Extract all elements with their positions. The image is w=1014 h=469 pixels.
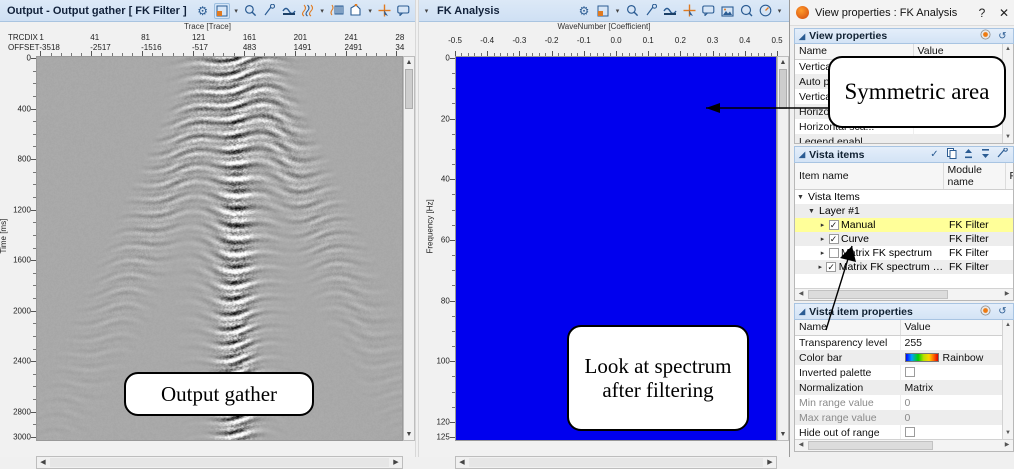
- zoom-icon[interactable]: [243, 3, 259, 19]
- collapse-triangle-icon[interactable]: ◢: [799, 32, 805, 41]
- fk-x-tick-label: -0.1: [577, 36, 591, 45]
- scroll-up-arrow[interactable]: ▲: [404, 57, 414, 68]
- item-property-name: Color bar: [795, 350, 900, 365]
- crosshair-icon[interactable]: [681, 3, 697, 19]
- vista-item-label: Layer #1: [817, 205, 949, 217]
- scroll-down-arrow[interactable]: ▼: [404, 429, 414, 440]
- item-property-value[interactable]: [900, 365, 1013, 380]
- scroll-down-arrow[interactable]: ▼: [1003, 428, 1013, 439]
- fk-y-tick-label: 80: [441, 296, 450, 305]
- property-name: Legend enabl...: [795, 134, 913, 144]
- col-value: Value: [900, 320, 1013, 335]
- callout-output-gather-text: Output gather: [161, 382, 277, 406]
- scroll-left-arrow[interactable]: ◀: [795, 289, 807, 300]
- squeeze-icon[interactable]: [300, 3, 316, 19]
- color-bar-swatch[interactable]: [905, 353, 939, 362]
- callout-symmetric-area-text: Symmetric area: [845, 79, 990, 105]
- item-property-row[interactable]: Transparency level255: [795, 335, 1013, 350]
- y-tick-label: 3000: [13, 433, 31, 442]
- item-property-name: Min range value: [795, 395, 900, 410]
- item-props-hscroll[interactable]: ◀ ▶: [795, 439, 1013, 451]
- x-header-trcdix: TRCDIX: [8, 33, 38, 42]
- x-tick-trcdix: 81: [141, 33, 150, 42]
- settings-orange-icon[interactable]: [979, 305, 992, 319]
- vista-items-title: Vista items: [809, 149, 924, 161]
- col-item-name: Item name: [795, 163, 943, 190]
- scroll-right-arrow[interactable]: ▶: [1001, 289, 1013, 300]
- item-property-value[interactable]: 255: [900, 335, 1013, 350]
- dock-title-text: View properties : FK Analysis: [815, 7, 968, 19]
- dropdown-caret-icon[interactable]: ▾: [319, 7, 326, 15]
- output-gather-horizontal-scrollbar[interactable]: ◀ ▶: [36, 456, 403, 469]
- fk-horizontal-scrollbar[interactable]: ◀ ▶: [455, 456, 777, 469]
- magnify-icon[interactable]: [738, 3, 754, 19]
- vista-tree-row[interactable]: ▸Matrix FK spectrumFK Filter: [795, 246, 1013, 260]
- annotate-icon[interactable]: [396, 3, 412, 19]
- item-property-value[interactable]: [900, 425, 1013, 440]
- fk-y-tick-label: 20: [441, 114, 450, 123]
- down-icon[interactable]: [979, 148, 992, 162]
- reset-icon[interactable]: ↺: [996, 306, 1009, 317]
- item-property-row[interactable]: Inverted palette: [795, 365, 1013, 380]
- x-tick-trcdix: 161: [243, 33, 256, 42]
- pick-icon[interactable]: [643, 3, 659, 19]
- gear-icon[interactable]: ⚙: [195, 3, 211, 19]
- y-tick-label: 800: [18, 155, 31, 164]
- dropdown-caret-icon[interactable]: ▾: [367, 7, 374, 15]
- horizontal-scroll-thumb[interactable]: [469, 458, 763, 467]
- y-axis-title: Time [ms]: [0, 218, 8, 253]
- vista-tree-row[interactable]: ▼Vista Items: [795, 190, 1013, 204]
- vista-item-properties-header[interactable]: ◢ Vista item properties ↺: [794, 303, 1014, 320]
- scroll-right-arrow[interactable]: ▶: [390, 457, 402, 468]
- item-property-value[interactable]: 0: [900, 410, 1013, 425]
- dropdown-caret-icon[interactable]: ▾: [233, 7, 240, 15]
- y-tick-label: 1600: [13, 256, 31, 265]
- vista-item-properties-title: Vista item properties: [809, 306, 975, 318]
- y-tick-label: 2400: [13, 357, 31, 366]
- vista-item-module: FK Filter: [949, 233, 1013, 245]
- select-rect-icon[interactable]: [595, 3, 611, 19]
- vista-items-section: ◢ Vista items ✓ Item n: [794, 146, 1014, 301]
- fk-x-tick-label: 0.0: [610, 36, 621, 45]
- output-gather-titlebar: Output - Output gather [ FK Filter ] ⚙ ▾: [0, 0, 415, 22]
- dock-titlebar: View properties : FK Analysis ? ✕: [790, 0, 1014, 26]
- col-module-name: Module name: [943, 163, 1005, 190]
- vista-item-label: Matrix FK spectrum: [839, 247, 949, 259]
- output-gather-x-axis: Trace [Trace] TRCDIX OFFSET 1-351841-251…: [0, 22, 415, 56]
- item-property-name: Max range value: [795, 410, 900, 425]
- polygon-icon[interactable]: [348, 3, 364, 19]
- vertical-scroll-thumb[interactable]: [779, 69, 787, 109]
- vista-item-label: Matrix FK spectrum muted: [837, 261, 949, 273]
- wave-icon[interactable]: [281, 3, 297, 19]
- dropdown-caret-icon[interactable]: ▾: [614, 7, 621, 15]
- callout-look-at-spectrum: Look at spectrum after filtering: [567, 325, 749, 431]
- item-property-value[interactable]: Rainbow: [900, 350, 1013, 365]
- trace-icon[interactable]: [329, 3, 345, 19]
- vista-item-module: FK Filter: [949, 219, 1013, 231]
- fk-y-axis: Frequency [Hz] 020406080100120125: [419, 56, 455, 441]
- vista-item-properties-table: NameValueTransparency level255Color barR…: [795, 320, 1013, 440]
- vista-logo-icon: [796, 6, 809, 19]
- callout-output-gather: Output gather: [124, 372, 314, 416]
- fk-y-axis-title: Frequency [Hz]: [426, 199, 435, 253]
- scroll-right-arrow[interactable]: ▶: [764, 457, 776, 468]
- vista-item-module: FK Filter: [949, 261, 1013, 273]
- erase-icon[interactable]: [996, 148, 1009, 162]
- fk-y-tick-label: 120: [436, 417, 449, 426]
- fk-vertical-scrollbar[interactable]: ▲ ▼: [777, 56, 789, 441]
- checkbox[interactable]: [905, 427, 915, 437]
- x-tick-values: 1-351841-251781-1516121-5171614832011491…: [36, 22, 403, 44]
- fk-y-tick-label: 125: [436, 433, 449, 442]
- expander-icon[interactable]: ▼: [806, 208, 817, 215]
- scroll-left-arrow[interactable]: ◀: [456, 457, 468, 468]
- item-checkbox[interactable]: [828, 220, 839, 230]
- scroll-left-arrow[interactable]: ◀: [37, 457, 49, 468]
- vista-tree-row[interactable]: ▸ManualFK Filter: [795, 218, 1013, 232]
- fk-x-tick-label: -0.2: [545, 36, 559, 45]
- col-p: P: [1005, 163, 1014, 190]
- output-gather-toolbar: ⚙ ▾ ▾: [195, 3, 415, 19]
- output-gather-vertical-scrollbar[interactable]: ▲ ▼: [403, 56, 415, 441]
- select-rect-icon[interactable]: [214, 3, 230, 19]
- item-property-row[interactable]: Min range value0: [795, 395, 1013, 410]
- col-name: Name: [795, 320, 900, 335]
- x-tick-trcdix: 201: [294, 33, 307, 42]
- scroll-left-arrow[interactable]: ◀: [795, 440, 807, 451]
- fk-x-tick-label: -0.4: [480, 36, 494, 45]
- vista-items-tree: ▼Vista Items▼Layer #1▸ManualFK Filter▸Cu…: [795, 190, 1013, 274]
- y-tick-label: 1200: [13, 205, 31, 214]
- item-property-value[interactable]: 0: [900, 395, 1013, 410]
- fk-x-tick-label: 0.4: [739, 36, 750, 45]
- x-tick-trcdix: 41: [90, 33, 99, 42]
- fk-x-tick-label: -0.3: [512, 36, 526, 45]
- scroll-down-arrow[interactable]: ▼: [1003, 132, 1013, 143]
- item-property-row[interactable]: Hide out of range: [795, 425, 1013, 440]
- vista-tree-row[interactable]: ▸Matrix FK spectrum mutedFK Filter: [795, 260, 1013, 274]
- property-value[interactable]: [913, 134, 1013, 144]
- horizontal-scroll-thumb[interactable]: [50, 458, 389, 467]
- y-tick-label: 2000: [13, 306, 31, 315]
- view-properties-header[interactable]: ◢ View properties ↺: [794, 28, 1014, 44]
- expander-icon[interactable]: ▸: [817, 235, 828, 243]
- vista-items-columns: Item name Module name P: [795, 163, 1014, 190]
- item-checkbox[interactable]: [828, 234, 839, 244]
- y-tick-label: 2800: [13, 407, 31, 416]
- callout-symmetric-area: Symmetric area: [828, 56, 1006, 128]
- vista-items-grid: Item name Module name P ▼Vista Items▼Lay…: [794, 163, 1014, 301]
- fk-x-tick-label: 0.3: [707, 36, 718, 45]
- property-row[interactable]: Legend enabl...: [795, 134, 1013, 144]
- panel-menu-caret-icon[interactable]: ▾: [423, 7, 430, 15]
- item-property-row[interactable]: Max range value0: [795, 410, 1013, 425]
- checkbox[interactable]: [905, 367, 915, 377]
- copy-icon[interactable]: [945, 148, 958, 162]
- expander-icon[interactable]: ▸: [817, 249, 828, 257]
- compass-icon[interactable]: [757, 3, 773, 19]
- view-properties-title: View properties: [809, 30, 975, 42]
- item-property-row[interactable]: NormalizationMatrix: [795, 380, 1013, 395]
- x-tick-trcdix: 241: [345, 33, 358, 42]
- callout-look-at-spectrum-text: Look at spectrum after filtering: [577, 354, 739, 402]
- item-property-value[interactable]: Matrix: [900, 380, 1013, 395]
- fk-y-tick-label: 100: [436, 357, 449, 366]
- item-checkbox[interactable]: [826, 262, 837, 272]
- vista-tree-row[interactable]: ▼Layer #1: [795, 204, 1013, 218]
- fk-x-tick-label: 0.1: [643, 36, 654, 45]
- item-property-row[interactable]: Color barRainbow: [795, 350, 1013, 365]
- fk-x-tick-label: 0.2: [675, 36, 686, 45]
- collapse-triangle-icon[interactable]: ◢: [799, 150, 805, 159]
- vista-item-properties-section: ◢ Vista item properties ↺ NameValueTrans…: [794, 303, 1014, 452]
- zoom-icon[interactable]: [624, 3, 640, 19]
- vista-item-label: Curve: [839, 233, 949, 245]
- vista-tree-row[interactable]: ▸CurveFK Filter: [795, 232, 1013, 246]
- close-button[interactable]: ✕: [996, 6, 1012, 20]
- crosshair-icon[interactable]: [377, 3, 393, 19]
- scroll-right-arrow[interactable]: ▶: [1001, 440, 1013, 451]
- x-header-offset: OFFSET: [8, 43, 40, 52]
- fk-x-axis: WaveNumber [Coefficient] -0.5-0.4-0.3-0.…: [419, 22, 789, 56]
- item-props-vscroll[interactable]: ▲ ▼: [1002, 320, 1013, 439]
- scroll-up-arrow[interactable]: ▲: [778, 57, 788, 68]
- vista-item-label: Manual: [839, 219, 949, 231]
- hscroll-thumb[interactable]: [808, 441, 933, 450]
- scroll-down-arrow[interactable]: ▼: [778, 429, 788, 440]
- output-gather-title: Output - Output gather [ FK Filter ]: [4, 5, 187, 17]
- expander-icon[interactable]: ▼: [795, 194, 806, 201]
- expander-icon[interactable]: ▸: [815, 263, 826, 271]
- scroll-up-arrow[interactable]: ▲: [1003, 44, 1013, 55]
- dropdown-caret-icon[interactable]: ▾: [776, 7, 783, 15]
- x-tick-trcdix: 1: [39, 33, 43, 42]
- y-tick-label: 400: [18, 104, 31, 113]
- fk-y-tick-label: 60: [441, 235, 450, 244]
- item-property-name: Inverted palette: [795, 365, 900, 380]
- fk-analysis-title: FK Analysis: [434, 5, 500, 17]
- x-tick-trcdix: 28: [395, 33, 404, 42]
- vista-item-label: Vista Items: [806, 191, 949, 203]
- vista-item-properties-grid: NameValueTransparency level255Color barR…: [794, 320, 1014, 452]
- expander-icon[interactable]: ▸: [817, 221, 828, 229]
- settings-orange-icon[interactable]: [979, 29, 992, 43]
- item-checkbox[interactable]: [828, 248, 839, 259]
- up-icon[interactable]: [962, 148, 975, 162]
- scroll-up-arrow[interactable]: ▲: [1003, 320, 1013, 331]
- gear-icon[interactable]: ⚙: [576, 3, 592, 19]
- vertical-scroll-thumb[interactable]: [405, 69, 413, 109]
- item-property-name: Normalization: [795, 380, 900, 395]
- vista-item-module: FK Filter: [949, 247, 1013, 259]
- fk-x-tick-values: -0.5-0.4-0.3-0.2-0.10.00.10.20.30.40.5: [455, 22, 777, 44]
- fk-x-tick-label: -0.5: [448, 36, 462, 45]
- vista-items-hscroll[interactable]: ◀ ▶: [795, 288, 1013, 300]
- output-gather-y-axis: Time [ms] 040080012001600200024002800300…: [0, 56, 36, 441]
- item-property-name: Transparency level: [795, 335, 900, 350]
- annotate-icon[interactable]: [700, 3, 716, 19]
- picture-icon[interactable]: [719, 3, 735, 19]
- wave-icon[interactable]: [662, 3, 678, 19]
- reset-icon[interactable]: ↺: [996, 31, 1009, 42]
- fk-x-tick-label: 0.5: [771, 36, 782, 45]
- fk-analysis-titlebar: ▾ FK Analysis ⚙ ▾: [419, 0, 789, 22]
- help-button[interactable]: ?: [974, 6, 990, 20]
- hscroll-thumb[interactable]: [808, 290, 948, 299]
- check-icon[interactable]: ✓: [928, 149, 941, 160]
- x-tick-trcdix: 121: [192, 33, 205, 42]
- vista-items-header[interactable]: ◢ Vista items ✓: [794, 146, 1014, 163]
- fk-y-tick-label: 40: [441, 175, 450, 184]
- item-property-name: Hide out of range: [795, 425, 900, 440]
- fk-analysis-toolbar: ⚙ ▾: [576, 3, 785, 19]
- pick-icon[interactable]: [262, 3, 278, 19]
- collapse-triangle-icon[interactable]: ◢: [799, 307, 805, 316]
